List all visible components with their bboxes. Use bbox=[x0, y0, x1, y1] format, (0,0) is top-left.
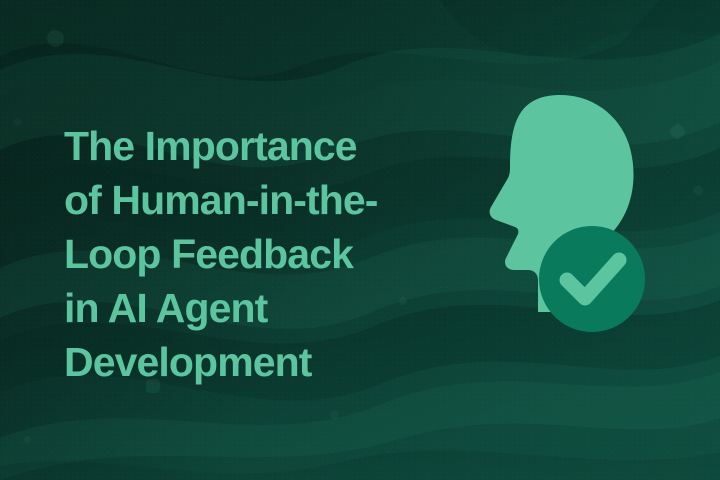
verified-check-badge bbox=[539, 226, 645, 332]
chip-dot-bottom-left bbox=[24, 436, 31, 443]
hero-card: The Importance of Human-in-the- Loop Fee… bbox=[0, 0, 720, 480]
page-title: The Importance of Human-in-the- Loop Fee… bbox=[64, 119, 464, 389]
headline-line-4: in AI Agent bbox=[64, 281, 464, 335]
chip-square-left-upper bbox=[14, 118, 22, 126]
headline-line-3: Loop Feedback bbox=[64, 227, 464, 281]
headline-line-1: The Importance bbox=[64, 119, 464, 173]
headline-line-5: Development bbox=[64, 335, 464, 389]
hero-illustration bbox=[452, 74, 692, 344]
headline-line-2: of Human-in-the- bbox=[64, 173, 464, 227]
chip-square-bottom-mid bbox=[330, 410, 339, 419]
